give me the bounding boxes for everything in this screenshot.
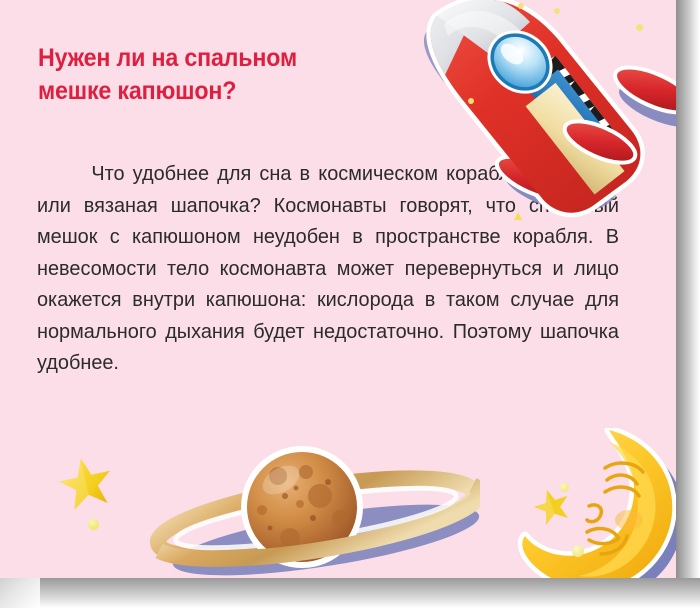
card-shadow-bottom [0,578,700,608]
card-shadow-right [676,0,700,590]
sparkle-dot-icon [572,545,584,557]
page-title: Нужен ли на спальном мешке капюшон? [38,42,373,108]
sparkle-dot-icon [468,98,474,104]
pink-card: Нужен ли на спальном мешке капюшон? Что … [0,0,676,578]
star-icon [58,455,114,511]
star-icon-small [533,487,571,525]
sleeping-moon-illustration [505,428,676,578]
sparkle-dot-icon [518,3,524,9]
poster-stage: Нужен ли на спальном мешке капюшон? Что … [0,0,700,608]
sparkle-dot-icon [88,519,99,530]
sparkle-dot-icon [636,24,643,31]
sparkle-dot-icon [554,8,560,14]
sparkle-dot-icon [560,483,569,492]
ringed-planet-illustration [150,440,480,578]
rocket-illustration [418,0,676,224]
